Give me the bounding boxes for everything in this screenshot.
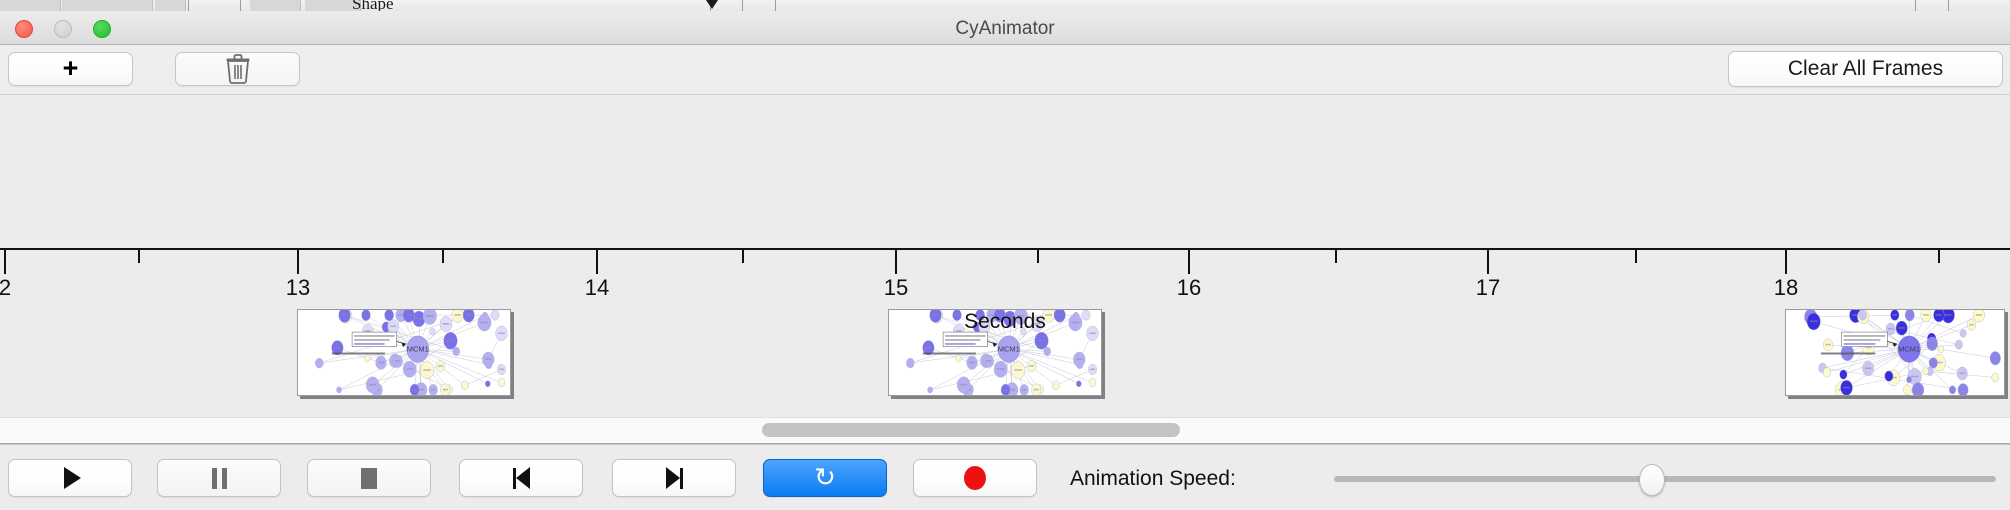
axis-tick-major	[596, 250, 598, 274]
axis-tick-label: 17	[1476, 275, 1500, 301]
trash-icon	[225, 54, 251, 84]
skip-to-start-button[interactable]	[459, 459, 583, 497]
axis-tick-major	[1785, 250, 1787, 274]
loop-icon: ↻	[814, 464, 836, 490]
clear-all-frames-label: Clear All Frames	[1788, 57, 1943, 81]
transport-bar: ↻ Animation Speed:	[0, 444, 2010, 510]
clear-all-frames-button[interactable]: Clear All Frames	[1728, 51, 2003, 87]
record-button[interactable]	[913, 459, 1037, 497]
plus-icon: +	[63, 55, 79, 82]
timeline-scrollbar-thumb[interactable]	[762, 423, 1180, 437]
delete-frame-button[interactable]	[175, 52, 300, 86]
axis-tick-major	[297, 250, 299, 274]
axis-tick-minor	[1335, 250, 1337, 263]
loop-toggle-button[interactable]: ↻	[763, 459, 887, 497]
axis-tick-label: 16	[1177, 275, 1201, 301]
axis-tick-minor	[1938, 250, 1940, 263]
axis-tick-label: 15	[884, 275, 908, 301]
skip-back-icon	[513, 467, 530, 489]
timeline-panel[interactable]: MCM1MCM1MCM1 2131415161718 Seconds	[0, 95, 2010, 417]
pause-icon	[212, 468, 227, 489]
svg-text:MCM1: MCM1	[998, 345, 1020, 354]
skip-forward-icon	[666, 467, 683, 489]
animation-speed-label: Animation Speed:	[1070, 467, 1236, 491]
stop-icon	[361, 468, 377, 489]
axis-tick-label: 14	[585, 275, 609, 301]
axis-tick-label: 13	[286, 275, 310, 301]
animation-speed-slider[interactable]	[1334, 476, 1996, 482]
pause-button[interactable]	[157, 459, 281, 497]
play-icon	[64, 467, 81, 489]
axis-tick-label: 2	[0, 275, 11, 301]
axis-tick-major	[895, 250, 897, 274]
add-frame-button[interactable]: +	[8, 52, 133, 86]
animation-speed-slider-thumb[interactable]	[1639, 464, 1665, 496]
play-button[interactable]	[8, 459, 132, 497]
stop-button[interactable]	[307, 459, 431, 497]
window-title: CyAnimator	[0, 18, 2010, 40]
axis-tick-minor	[1635, 250, 1637, 263]
timeline-axis-line	[0, 248, 2010, 250]
axis-title: Seconds	[0, 310, 2010, 334]
axis-tick-major	[1188, 250, 1190, 274]
svg-text:MCM1: MCM1	[1898, 345, 1920, 354]
svg-text:MCM1: MCM1	[407, 345, 429, 354]
axis-tick-label: 18	[1774, 275, 1798, 301]
background-arrow-icon	[706, 0, 718, 9]
axis-tick-minor	[442, 250, 444, 263]
title-bar: CyAnimator	[0, 11, 2010, 45]
cyanimator-window: CyAnimator + Clear All Frames MCM1MCM1MC…	[0, 11, 2010, 510]
record-icon	[964, 466, 986, 490]
axis-tick-minor	[1037, 250, 1039, 263]
axis-tick-minor	[138, 250, 140, 263]
skip-to-end-button[interactable]	[612, 459, 736, 497]
toolbar: + Clear All Frames	[0, 45, 2010, 95]
axis-tick-minor	[742, 250, 744, 263]
timeline-scrollbar[interactable]	[0, 417, 2010, 444]
axis-tick-major	[4, 250, 6, 274]
axis-tick-major	[1487, 250, 1489, 274]
